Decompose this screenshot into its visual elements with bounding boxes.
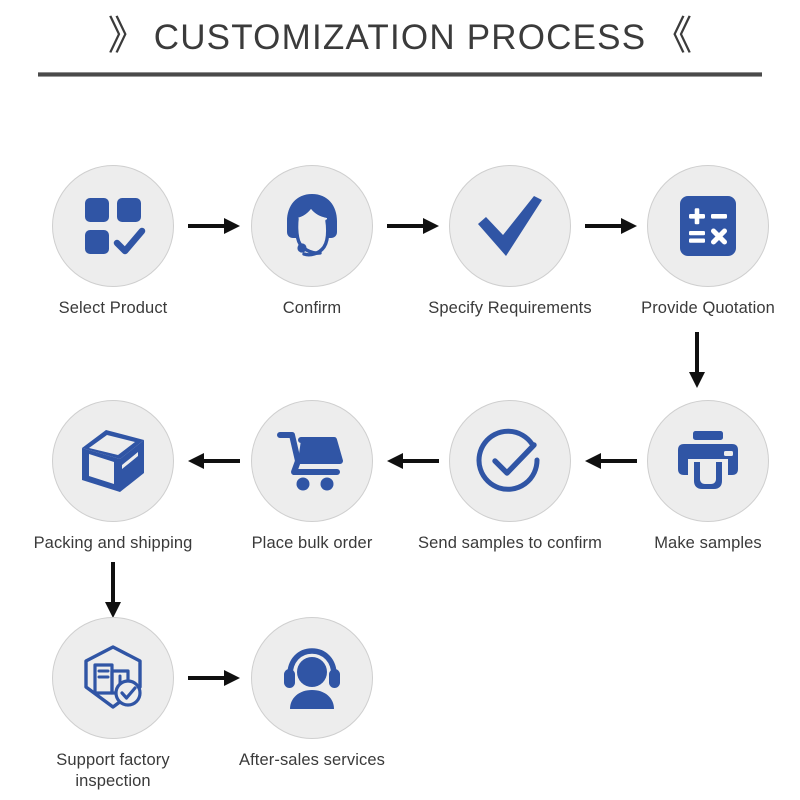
calculator-icon	[676, 194, 740, 258]
headset-person-icon	[276, 645, 348, 711]
checkmark-icon	[474, 190, 546, 262]
step-node-support-factory-inspection[interactable]: Support factory inspection	[18, 617, 208, 792]
step-icon-circle	[647, 400, 769, 522]
shield-inspection-icon	[78, 643, 148, 713]
connector-arrow-down-left	[102, 562, 124, 618]
step-icon-circle	[251, 617, 373, 739]
step-node-after-sales-services[interactable]: After-sales services	[217, 617, 407, 771]
title-row: 》 CUSTOMIZATION PROCESS 《	[0, 8, 800, 68]
step-label: Support factory inspection	[18, 750, 208, 792]
step-node-confirm[interactable]: Confirm	[217, 165, 407, 319]
step-label: Select Product	[18, 298, 208, 319]
connector-arrow-right-3	[585, 215, 637, 237]
connector-arrow-left-1	[585, 450, 637, 472]
step-icon-circle	[251, 165, 373, 287]
shopping-cart-icon	[277, 428, 347, 494]
connector-arrow-right-4	[188, 667, 240, 689]
step-label: Specify Requirements	[415, 298, 605, 319]
step-icon-circle	[449, 165, 571, 287]
step-node-provide-quotation[interactable]: Provide Quotation	[613, 165, 800, 319]
chevron-left-decoration-icon: 《	[652, 16, 692, 56]
step-label: Place bulk order	[217, 533, 407, 554]
customer-agent-icon	[274, 188, 350, 264]
step-label: Confirm	[217, 298, 407, 319]
printer-icon	[674, 429, 742, 493]
step-label: Provide Quotation	[613, 298, 800, 319]
step-node-specify-requirements[interactable]: Specify Requirements	[415, 165, 605, 319]
chevron-right-decoration-icon: 》	[108, 16, 148, 56]
page-header: 》 CUSTOMIZATION PROCESS 《	[0, 0, 800, 92]
grid-check-icon	[80, 193, 146, 259]
connector-arrow-left-3	[188, 450, 240, 472]
step-node-select-product[interactable]: Select Product	[18, 165, 208, 319]
step-label: Packing and shipping	[18, 533, 208, 554]
step-icon-circle	[52, 165, 174, 287]
step-node-place-bulk-order[interactable]: Place bulk order	[217, 400, 407, 554]
step-label: Send samples to confirm	[415, 533, 605, 554]
step-label: After-sales services	[217, 750, 407, 771]
circle-check-icon	[475, 426, 545, 496]
step-icon-circle	[647, 165, 769, 287]
connector-arrow-left-2	[387, 450, 439, 472]
step-icon-circle	[449, 400, 571, 522]
step-node-packing-and-shipping[interactable]: Packing and shipping	[18, 400, 208, 554]
step-icon-circle	[52, 617, 174, 739]
title-divider	[38, 72, 762, 77]
box-icon	[78, 426, 148, 496]
connector-arrow-down-right	[686, 332, 708, 388]
step-label: Make samples	[613, 533, 800, 554]
step-node-make-samples[interactable]: Make samples	[613, 400, 800, 554]
connector-arrow-right-1	[188, 215, 240, 237]
connector-arrow-right-2	[387, 215, 439, 237]
step-icon-circle	[52, 400, 174, 522]
step-node-send-samples-to-confirm[interactable]: Send samples to confirm	[415, 400, 605, 554]
page-title: CUSTOMIZATION PROCESS	[154, 18, 647, 58]
step-icon-circle	[251, 400, 373, 522]
